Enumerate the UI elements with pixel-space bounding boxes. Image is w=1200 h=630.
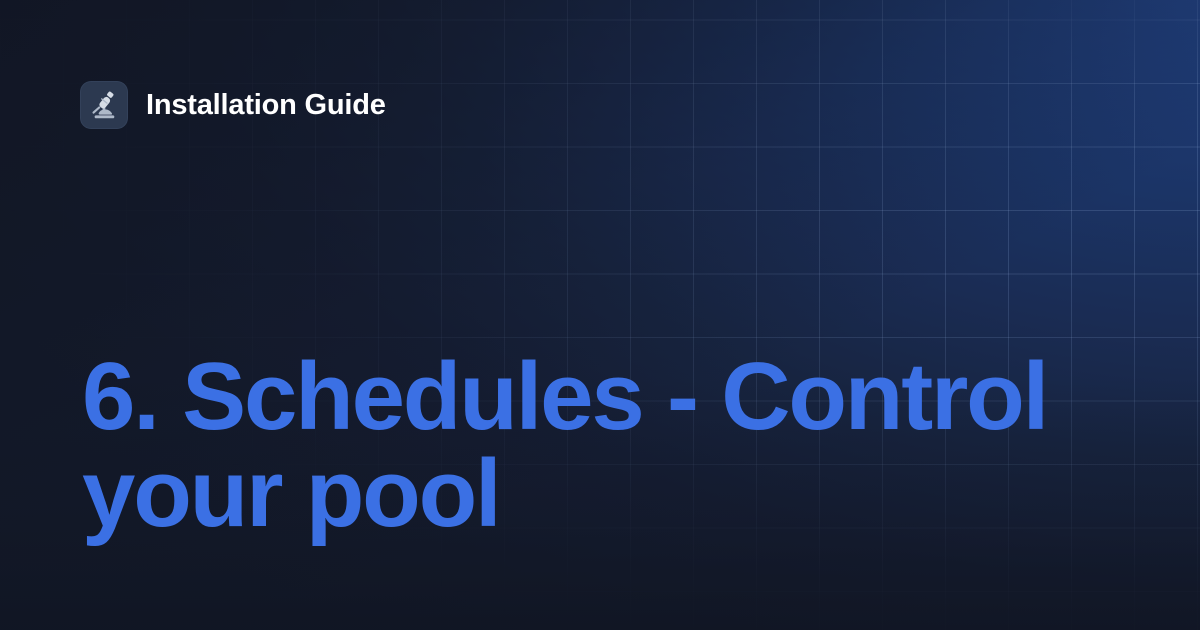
og-card: Installation Guide 6. Schedules - Contro… (0, 0, 1200, 630)
microscope-icon (89, 90, 119, 120)
brand-row: Installation Guide (80, 80, 386, 130)
page-title: 6. Schedules - Control your pool (82, 348, 1122, 542)
brand-badge (80, 81, 128, 129)
brand-title: Installation Guide (146, 91, 386, 120)
